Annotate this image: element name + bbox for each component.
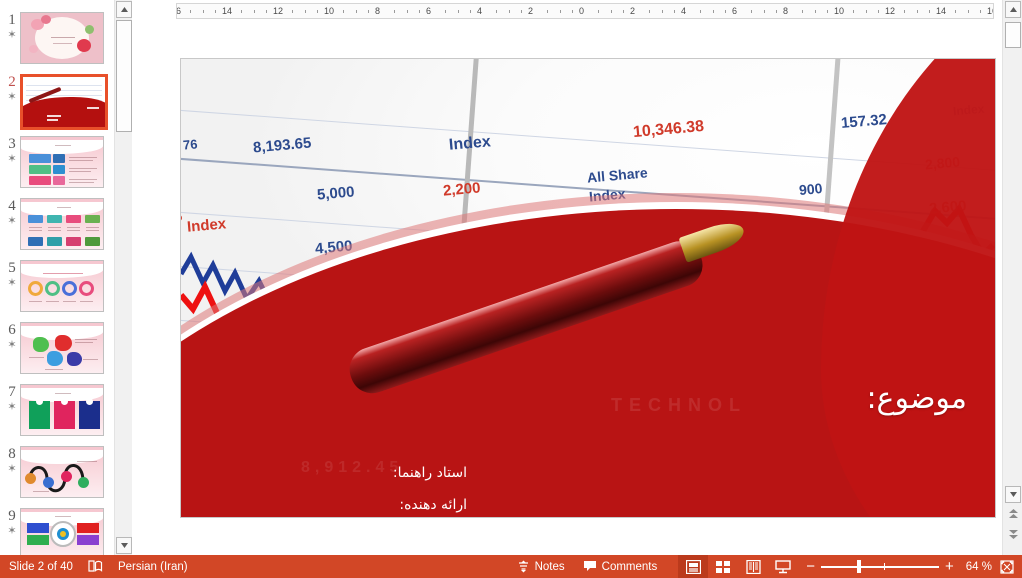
slide-show-view-button[interactable] bbox=[768, 555, 798, 578]
zoom-slider-rail bbox=[821, 566, 939, 568]
reading-view-icon bbox=[746, 560, 761, 574]
ruler-minor-tick bbox=[929, 10, 930, 13]
ruler-minor-tick bbox=[815, 10, 816, 13]
ruler-minor-tick bbox=[215, 10, 216, 13]
animation-star-icon: ✶ bbox=[7, 215, 16, 227]
ruler-minor-tick bbox=[305, 10, 306, 13]
scroll-down-button[interactable] bbox=[1005, 486, 1021, 503]
thumbnail-number: 9 bbox=[8, 509, 16, 524]
slide-position-indicator[interactable]: Slide 2 of 40 bbox=[0, 555, 82, 578]
fit-slide-to-window-button[interactable] bbox=[996, 555, 1022, 578]
slide-presenter-label[interactable]: ارائه دهنده: bbox=[399, 497, 467, 513]
ruler-minor-tick bbox=[560, 10, 561, 13]
ruler-tick-label: 10 bbox=[324, 6, 334, 16]
ruler-minor-tick bbox=[241, 10, 242, 13]
slide-thumbnail-pane[interactable]: 1 ✶ 2 ✶ bbox=[0, 0, 114, 555]
thumbnail-preview[interactable] bbox=[20, 136, 104, 188]
ruler-minor-tick bbox=[917, 10, 918, 13]
ruler-minor-tick bbox=[611, 10, 612, 13]
thumbnail-item-6[interactable]: 6 ✶ bbox=[0, 322, 114, 384]
ruler-minor-tick bbox=[445, 10, 446, 13]
slide-pane-scrollbar[interactable] bbox=[1002, 0, 1022, 555]
previous-slide-button[interactable] bbox=[1008, 509, 1019, 519]
ruler-minor-tick bbox=[458, 10, 459, 13]
status-bar: Slide 2 of 40 Persian (Iran) Notes Comme… bbox=[0, 555, 1022, 578]
thumbnail-meta: 5 ✶ bbox=[0, 260, 20, 289]
ruler-tick-label: 2 bbox=[630, 6, 635, 16]
ruler-minor-tick bbox=[764, 10, 765, 13]
ruler-minor-tick bbox=[827, 10, 828, 13]
slide-canvas-area[interactable]: 76 8,193.65 Index 10,346.38 157.32 Index… bbox=[136, 22, 1000, 555]
zoom-slider-midpoint bbox=[884, 563, 885, 570]
normal-view-icon bbox=[686, 560, 701, 574]
ruler-tick-label: 6 bbox=[426, 6, 431, 16]
thumbnail-meta: 9 ✶ bbox=[0, 508, 20, 537]
ruler-minor-tick bbox=[802, 10, 803, 13]
ruler-minor-tick bbox=[190, 10, 191, 13]
ruler-minor-tick bbox=[292, 10, 293, 13]
comment-bubble-icon bbox=[583, 560, 597, 573]
ruler-minor-tick bbox=[547, 10, 548, 13]
ruler-minor-tick bbox=[572, 10, 573, 13]
zoom-in-button[interactable]: + bbox=[945, 562, 954, 572]
zoom-out-button[interactable]: − bbox=[806, 562, 815, 572]
scroll-down-button[interactable] bbox=[116, 537, 132, 554]
zoom-slider-group[interactable]: − + bbox=[798, 555, 962, 578]
fit-to-window-icon bbox=[1000, 560, 1014, 574]
ruler-minor-tick bbox=[509, 10, 510, 13]
ruler-minor-tick bbox=[700, 10, 701, 13]
thumbnail-number: 5 bbox=[8, 261, 16, 276]
ruler-minor-tick bbox=[853, 10, 854, 13]
ruler-minor-tick bbox=[254, 10, 255, 13]
ruler-tick-label: 16 bbox=[987, 6, 994, 16]
animation-star-icon: ✶ bbox=[7, 339, 16, 351]
triangle-up-icon bbox=[121, 7, 128, 12]
animation-star-icon: ✶ bbox=[7, 463, 16, 475]
thumbnail-item-5[interactable]: 5 ✶ bbox=[0, 260, 114, 322]
scroll-up-button[interactable] bbox=[1005, 1, 1021, 18]
ruler-tick-label: 10 bbox=[834, 6, 844, 16]
thumbnail-meta: 6 ✶ bbox=[0, 322, 20, 351]
ruler-minor-tick bbox=[725, 10, 726, 13]
ruler-minor-tick bbox=[649, 10, 650, 13]
notes-button[interactable]: Notes bbox=[508, 555, 574, 578]
scroll-up-button[interactable] bbox=[116, 1, 132, 18]
ruler-minor-tick bbox=[394, 10, 395, 13]
normal-view-button[interactable] bbox=[678, 555, 708, 578]
ruler-minor-tick bbox=[878, 10, 879, 13]
ruler-minor-tick bbox=[968, 10, 969, 13]
book-proofing-icon bbox=[88, 560, 103, 573]
ruler-tick-label: 2 bbox=[528, 6, 533, 16]
ruler-minor-tick bbox=[776, 10, 777, 13]
thumbnail-item-3[interactable]: 3 ✶ bbox=[0, 136, 114, 198]
ruler-minor-tick bbox=[623, 10, 624, 13]
thumbnail-meta: 3 ✶ bbox=[0, 136, 20, 165]
thumbnail-meta: 7 ✶ bbox=[0, 384, 20, 413]
thumbnail-meta: 2 ✶ bbox=[0, 74, 20, 103]
thumbnail-number: 4 bbox=[8, 199, 16, 214]
notes-label: Notes bbox=[535, 561, 565, 573]
thumbnail-preview[interactable] bbox=[20, 260, 104, 312]
zoom-level-indicator[interactable]: 64 % bbox=[962, 555, 996, 578]
ruler-minor-tick bbox=[713, 10, 714, 13]
ruler-minor-tick bbox=[470, 10, 471, 13]
language-indicator[interactable]: Persian (Iran) bbox=[109, 555, 197, 578]
ruler-minor-tick bbox=[904, 10, 905, 13]
thumbnail-item-4[interactable]: 4 ✶ bbox=[0, 198, 114, 260]
animation-star-icon: ✶ bbox=[7, 153, 16, 165]
next-slide-button[interactable] bbox=[1008, 530, 1019, 540]
thumbnail-item-8[interactable]: 8 ✶ bbox=[0, 446, 114, 508]
thumbnail-preview[interactable] bbox=[20, 508, 104, 555]
triangle-down-icon bbox=[1010, 492, 1017, 497]
thumbnail-item-1[interactable]: 1 ✶ bbox=[0, 12, 114, 74]
ruler-tick-label: 0 bbox=[579, 6, 584, 16]
ruler-minor-tick bbox=[955, 10, 956, 13]
ruler-minor-tick bbox=[674, 10, 675, 13]
ruler-minor-tick bbox=[356, 10, 357, 13]
ruler-minor-tick bbox=[751, 10, 752, 13]
ruler-tick-label: 12 bbox=[273, 6, 283, 16]
thumbnail-preview-selected[interactable] bbox=[20, 74, 108, 130]
slide-sorter-icon bbox=[716, 560, 731, 574]
animation-star-icon: ✶ bbox=[7, 401, 16, 413]
animation-star-icon: ✶ bbox=[7, 277, 16, 289]
zoom-slider-track[interactable] bbox=[821, 561, 939, 573]
ruler-minor-tick bbox=[419, 10, 420, 13]
ruler-minor-tick bbox=[343, 10, 344, 13]
ruler-minor-tick bbox=[521, 10, 522, 13]
ruler-minor-tick bbox=[203, 10, 204, 13]
ruler-minor-tick bbox=[866, 10, 867, 13]
thumbnail-number: 7 bbox=[8, 385, 16, 400]
zoom-slider-thumb[interactable] bbox=[857, 560, 861, 573]
thumbnail-meta: 1 ✶ bbox=[0, 12, 20, 41]
thumbnail-meta: 4 ✶ bbox=[0, 198, 20, 227]
ruler-tick-label: 16 bbox=[176, 6, 181, 16]
thumbnail-number: 6 bbox=[8, 323, 16, 338]
horizontal-ruler[interactable]: 1614121086420246810121416 bbox=[176, 3, 994, 19]
thumbnail-number: 8 bbox=[8, 447, 16, 462]
view-buttons-group bbox=[678, 555, 798, 578]
double-chevron-up-icon bbox=[1008, 509, 1019, 519]
ruler-tick-label: 14 bbox=[222, 6, 232, 16]
ruler-minor-tick bbox=[496, 10, 497, 13]
comments-button[interactable]: Comments bbox=[574, 555, 667, 578]
current-slide[interactable]: 76 8,193.65 Index 10,346.38 157.32 Index… bbox=[180, 58, 996, 518]
thumbnail-item-9[interactable]: 9 ✶ bbox=[0, 508, 114, 555]
ruler-minor-tick bbox=[407, 10, 408, 13]
thumbnail-preview[interactable] bbox=[20, 446, 104, 498]
ruler-tick-label: 4 bbox=[477, 6, 482, 16]
thumbnail-preview[interactable] bbox=[20, 12, 104, 64]
ruler-minor-tick bbox=[662, 10, 663, 13]
triangle-down-icon bbox=[121, 543, 128, 548]
reading-view-button[interactable] bbox=[738, 555, 768, 578]
ruler-tick-label: 8 bbox=[375, 6, 380, 16]
double-chevron-down-icon bbox=[1008, 530, 1019, 540]
ruler-tick-label: 14 bbox=[936, 6, 946, 16]
ruler-minor-tick bbox=[266, 10, 267, 13]
ruler-tick-label: 12 bbox=[885, 6, 895, 16]
animation-star-icon: ✶ bbox=[7, 29, 16, 41]
comments-label: Comments bbox=[602, 561, 658, 573]
spell-check-button[interactable] bbox=[82, 555, 109, 578]
animation-star-icon: ✶ bbox=[7, 525, 16, 537]
thumbnail-pane-scrollbar[interactable] bbox=[114, 0, 132, 555]
scrollbar-thumb[interactable] bbox=[116, 20, 132, 132]
thumbnail-preview[interactable] bbox=[20, 322, 104, 374]
ruler-minor-tick bbox=[598, 10, 599, 13]
ruler-tick-label: 4 bbox=[681, 6, 686, 16]
triangle-up-icon bbox=[1010, 7, 1017, 12]
ruler-minor-tick bbox=[368, 10, 369, 13]
ruler-tick-label: 8 bbox=[783, 6, 788, 16]
zoom-level-text: 64 % bbox=[966, 561, 992, 573]
language-text: Persian (Iran) bbox=[118, 561, 188, 573]
slide-text-layer: موضوع: استاد راهنما: ارائه دهنده: bbox=[181, 59, 995, 517]
thumbnail-preview[interactable] bbox=[20, 198, 104, 250]
ruler-minor-tick bbox=[317, 10, 318, 13]
thumbnail-meta: 8 ✶ bbox=[0, 446, 20, 475]
scrollbar-thumb[interactable] bbox=[1005, 22, 1021, 48]
slide-title-subject[interactable]: موضوع: bbox=[866, 381, 967, 416]
thumbnail-preview[interactable] bbox=[20, 384, 104, 436]
ruler-tick-label: 6 bbox=[732, 6, 737, 16]
thumbnail-number: 2 bbox=[8, 75, 16, 90]
ruler-minor-tick bbox=[980, 10, 981, 13]
animation-star-icon: ✶ bbox=[7, 91, 16, 103]
notes-icon bbox=[517, 560, 530, 573]
slide-position-text: Slide 2 of 40 bbox=[9, 561, 73, 573]
thumbnail-number: 1 bbox=[8, 13, 16, 28]
slide-advisor-label[interactable]: استاد راهنما: bbox=[393, 465, 467, 481]
thumbnail-number: 3 bbox=[8, 137, 16, 152]
slide-show-icon bbox=[775, 560, 791, 574]
thumbnail-item-7[interactable]: 7 ✶ bbox=[0, 384, 114, 446]
thumbnail-item-2[interactable]: 2 ✶ bbox=[0, 74, 114, 136]
slide-sorter-view-button[interactable] bbox=[708, 555, 738, 578]
